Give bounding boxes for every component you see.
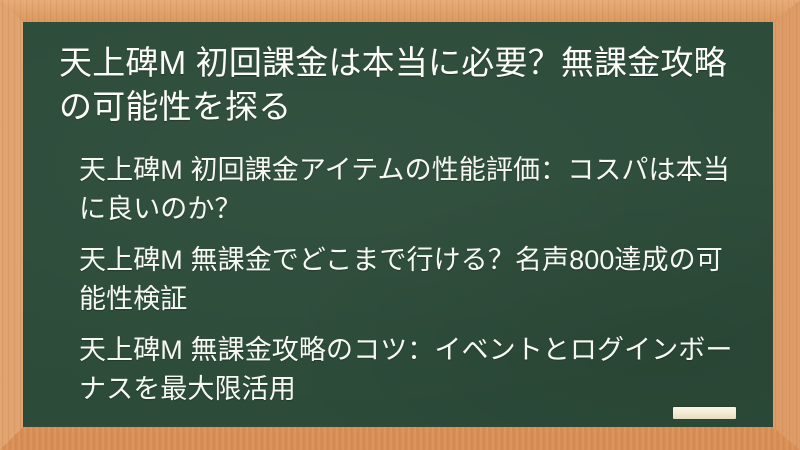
article-list: 天上碑M 初回課金アイテムの性能評価：コスパは本当に良いのか？ 天上碑M 無課金…: [51, 151, 745, 409]
page-title: 天上碑M 初回課金は本当に必要？無課金攻略の可能性を探る: [59, 41, 745, 129]
list-item[interactable]: 天上碑M 初回課金アイテムの性能評価：コスパは本当に良いのか？: [79, 151, 745, 229]
list-item[interactable]: 天上碑M 無課金攻略のコツ：イベントとログインボーナスを最大限活用: [79, 331, 745, 409]
chalkboard-content: 天上碑M 初回課金は本当に必要？無課金攻略の可能性を探る 天上碑M 初回課金アイ…: [23, 22, 773, 427]
frame-plank-left: [0, 0, 23, 450]
chalk-eraser-icon: [673, 407, 736, 419]
frame-plank-bottom: [0, 427, 800, 450]
chalkboard-surface: 天上碑M 初回課金は本当に必要？無課金攻略の可能性を探る 天上碑M 初回課金アイ…: [23, 22, 773, 427]
list-item[interactable]: 天上碑M 無課金でどこまで行ける？名声800達成の可能性検証: [79, 241, 745, 319]
frame-plank-top: [0, 0, 800, 22]
frame-plank-right: [773, 0, 800, 450]
chalkboard-frame: 天上碑M 初回課金は本当に必要？無課金攻略の可能性を探る 天上碑M 初回課金アイ…: [0, 0, 800, 450]
